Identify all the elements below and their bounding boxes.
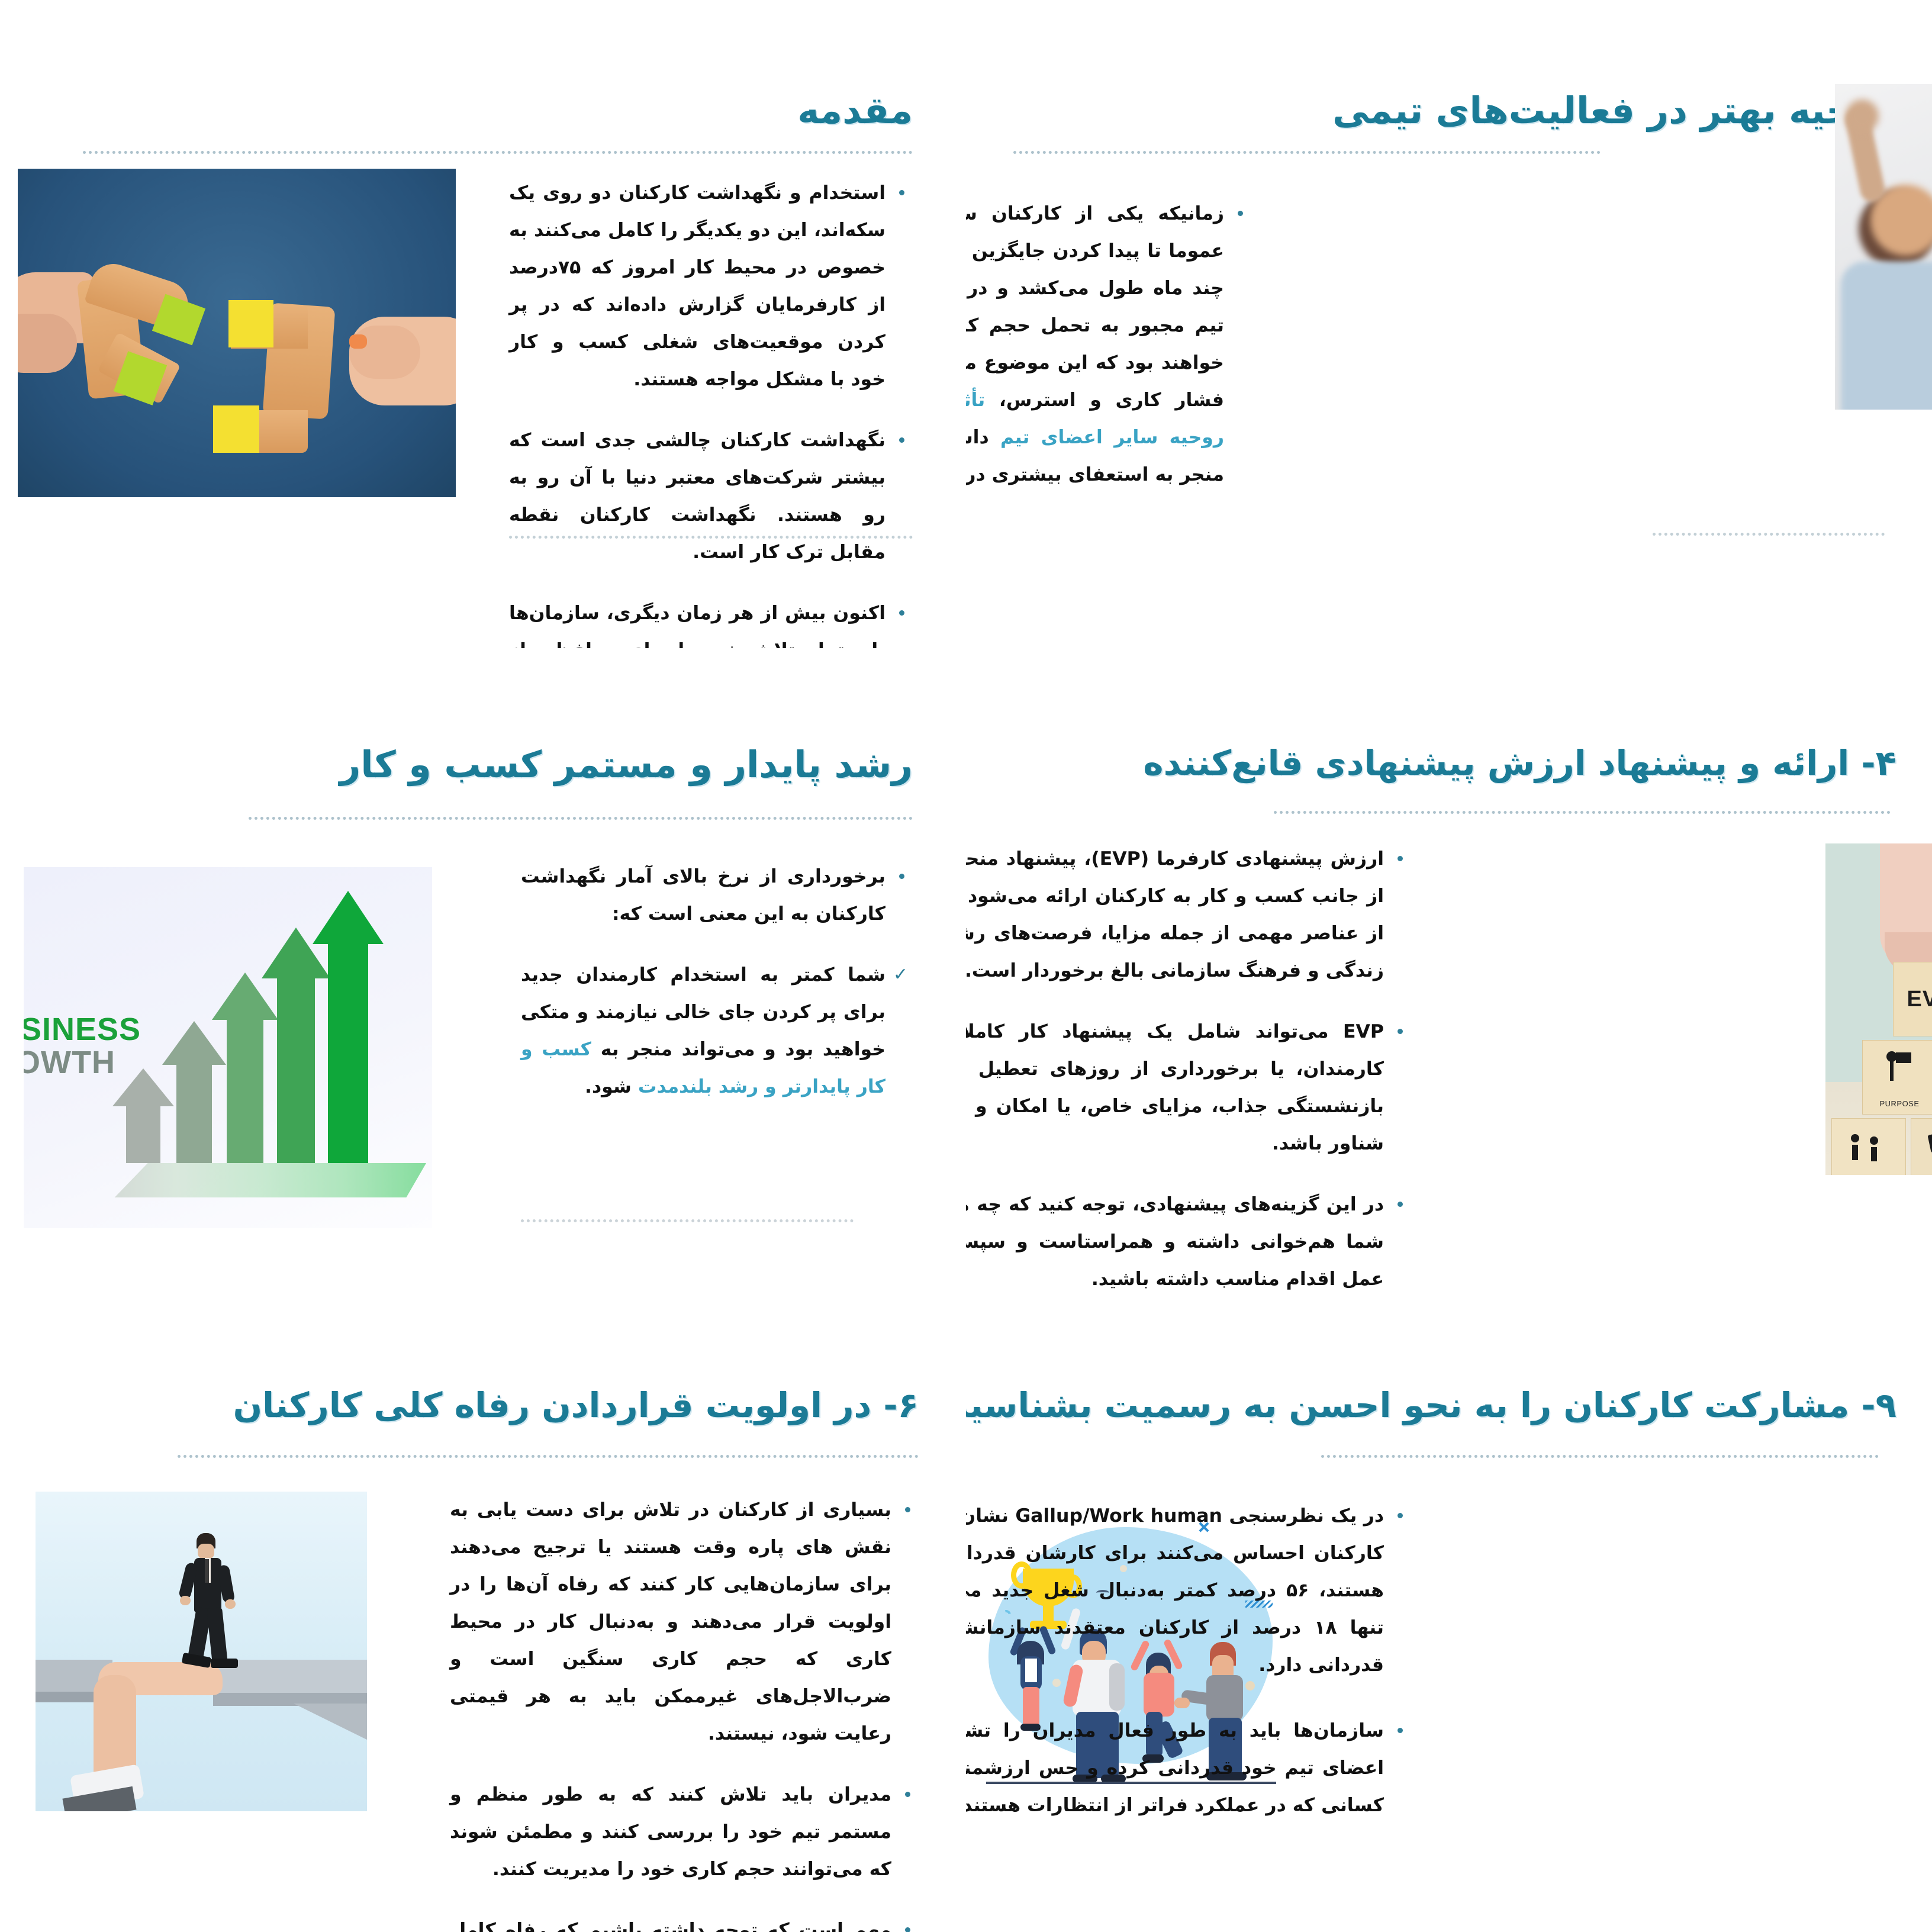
evp-block-label: PURPOSE <box>1863 1099 1932 1108</box>
title-divider <box>83 151 913 154</box>
slide-team-morale: روحیه بهتر در فعالیت‌های تیمی <box>966 0 1932 648</box>
title-divider <box>1274 811 1891 814</box>
list-item: EVP می‌تواند شامل یک پیشنهاد کار کاملاً … <box>966 1013 1411 1163</box>
list-item: ارزش پیشنهادی کارفرما (EVP)، پیشنهاد منح… <box>966 841 1411 990</box>
bullet-list: استخدام و نگهداشت کارکنان دو روی یک سکه‌… <box>509 175 913 648</box>
list-item: نگهداشت کارکنان چالشی جدی است که بیشتر ش… <box>509 422 913 571</box>
title-divider <box>1013 151 1601 154</box>
slide-evp: ۴- ارائه و پیشنهاد ارزش پیشنهادی قانع‌کن… <box>966 648 1932 1296</box>
page-title: ۹- مشارکت کارکنان را به نحو احسن به رسمی… <box>1002 1385 1896 1425</box>
growth-label-line1: SINESS <box>24 1013 141 1046</box>
slide-body: استخدام و نگهداشت کارکنان دو روی یک سکه‌… <box>509 175 913 648</box>
bullet-list: در یک نظرسنجی Gallup/Work human نشان داد… <box>966 1498 1411 1824</box>
evp-block-label: EVP <box>1894 962 1932 1036</box>
growth-arrow-5 <box>313 891 384 1163</box>
team-celebration-photo <box>1835 84 1932 410</box>
slide-body: زمانیکه یکی از کارکنان سازمان را ترک می‌… <box>966 195 1251 517</box>
bullet-list: ارزش پیشنهادی کارفرما (EVP)، پیشنهاد منح… <box>966 841 1411 1296</box>
bottom-divider <box>521 1219 854 1222</box>
list-item: شما کمتر به استخدام کارمندان جدید برای پ… <box>521 957 913 1106</box>
business-growth-arrows-graphic: SINESS OWTH <box>24 867 432 1228</box>
list-item: زمانیکه یکی از کارکنان سازمان را ترک می‌… <box>966 195 1251 494</box>
magnet-hands-photo <box>18 169 456 497</box>
list-item: در این گزینه‌های پیشنهادی، توجه کنید که … <box>966 1186 1411 1296</box>
slide-body: ارزش پیشنهادی کارفرما (EVP)، پیشنهاد منح… <box>966 841 1411 1296</box>
page-title: مقدمه <box>83 89 913 132</box>
title-divider <box>249 817 913 820</box>
list-item: در یک نظرسنجی Gallup/Work human نشان داد… <box>966 1498 1411 1684</box>
list-item: مهم است که توجه داشته باشیم که رفاه کامل… <box>450 1912 919 1932</box>
page-title: روحیه بهتر در فعالیت‌های تیمی <box>1002 89 1896 132</box>
businessman-bridge-helping-hand-photo <box>36 1492 367 1811</box>
page-title: ۴- ارائه و پیشنهاد ارزش پیشنهادی قانع‌کن… <box>1002 743 1896 783</box>
slide-body: بسیاری از کارکنان در تلاش برای دست یابی … <box>450 1492 919 1932</box>
list-item: برخورداری از نرخ بالای آمار نگهداشت کارک… <box>521 858 913 933</box>
list-item: مدیران باید تلاش کنند که به طور منظم و م… <box>450 1776 919 1888</box>
bullet-list: برخورداری از نرخ بالای آمار نگهداشت کارک… <box>521 858 913 1106</box>
slide-body: برخورداری از نرخ بالای آمار نگهداشت کارک… <box>521 858 913 1129</box>
slide-body: در یک نظرسنجی Gallup/Work human نشان داد… <box>966 1498 1411 1848</box>
list-item: بسیاری از کارکنان در تلاش برای دست یابی … <box>450 1492 919 1753</box>
slide-introduction: مقدمه <box>0 0 966 648</box>
bullet-list: زمانیکه یکی از کارکنان سازمان را ترک می‌… <box>966 195 1251 494</box>
slide-wellbeing: ۶- در اولویت قراردادن رفاه کلی کارکنان <box>0 1296 966 1932</box>
list-item: استخدام و نگهداشت کارکنان دو روی یک سکه‌… <box>509 175 913 398</box>
slide-recognition: ۹- مشارکت کارکنان را به نحو احسن به رسمی… <box>966 1296 1932 1932</box>
bottom-divider <box>1653 533 1885 536</box>
title-divider <box>1321 1455 1879 1458</box>
bottom-divider <box>509 536 913 539</box>
bullet-list: بسیاری از کارکنان در تلاش برای دست یابی … <box>450 1492 919 1932</box>
list-item: اکنون بیش از هر زمان دیگری، سازمان‌ها با… <box>509 595 913 648</box>
title-divider <box>178 1455 919 1458</box>
evp-wooden-blocks-photo: EVP PURPOSE CAREERS WELL-BEING <box>1825 843 1932 1175</box>
page-title: ۶- در اولویت قراردادن رفاه کلی کارکنان <box>71 1385 919 1425</box>
list-item: سازمان‌ها باید به طور فعال مدیران را تشو… <box>966 1712 1411 1824</box>
slide-deck: روحیه بهتر در فعالیت‌های تیمی <box>0 0 1932 1932</box>
slide-growth: رشد پایدار و مستمر کسب و کار SINESS OWTH <box>0 648 966 1296</box>
growth-label-line2: OWTH <box>24 1046 115 1080</box>
page-title: رشد پایدار و مستمر کسب و کار <box>178 743 913 786</box>
